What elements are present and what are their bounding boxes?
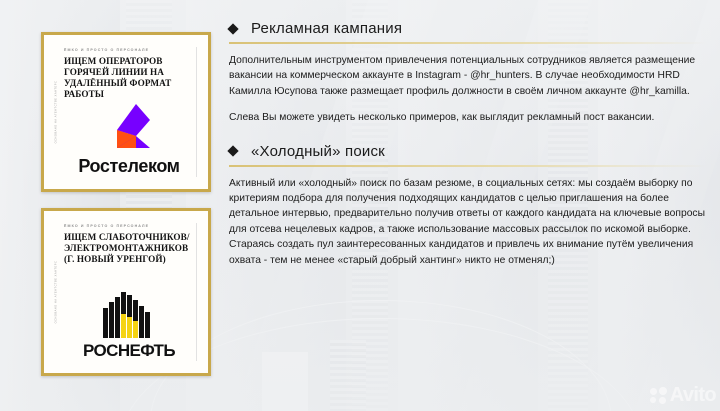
card-inner: ОСНОВАНО НА АГЕНТСТВЕ ХАНТЕРС ЁМКО И ПРО… (48, 215, 204, 369)
card-side-rail: ОСНОВАНО НА АГЕНТСТВЕ ХАНТЕРС (48, 39, 64, 185)
diamond-bullet-icon (227, 145, 238, 156)
avito-dots-icon (650, 387, 667, 404)
section-rule (229, 165, 707, 167)
card-kicker: ЁМКО И ПРОСТО О ПЕРСОНАЛЕ (64, 48, 194, 52)
card-rail-text: ОСНОВАНО НА АГЕНТСТВЕ ХАНТЕРС (55, 261, 58, 324)
card-headline: ИЩЕМ СЛАБОТОЧНИКОВ/ ЭЛЕКТРОМОНТАЖНИКОВ (… (64, 232, 194, 265)
ad-card-rostelecom[interactable]: ОСНОВАНО НА АГЕНТСТВЕ ХАНТЕРС ЁМКО И ПРО… (41, 32, 211, 192)
avito-watermark: Avito (650, 384, 716, 407)
card-body: ЁМКО И ПРОСТО О ПЕРСОНАЛЕ ИЩЕМ ОПЕРАТОРО… (64, 39, 204, 185)
card-inner: ОСНОВАНО НА АГЕНТСТВЕ ХАНТЕРС ЁМКО И ПРО… (48, 39, 204, 185)
card-divider (196, 47, 197, 177)
content-column: Рекламная кампания Дополнительным инстру… (229, 20, 707, 268)
slide-canvas: ОСНОВАНО НА АГЕНТСТВЕ ХАНТЕРС ЁМКО И ПРО… (0, 0, 720, 411)
brand-lockup: РОСНЕФТЬ (64, 265, 194, 363)
card-brand-name: Ростелеком (78, 156, 179, 177)
card-headline: ИЩЕМ ОПЕРАТОРОВ ГОРЯЧЕЙ ЛИНИИ НА УДАЛЁНН… (64, 56, 194, 100)
ad-card-rosneft[interactable]: ОСНОВАНО НА АГЕНТСТВЕ ХАНТЕРС ЁМКО И ПРО… (41, 208, 211, 376)
card-kicker: ЁМКО И ПРОСТО О ПЕРСОНАЛЕ (64, 224, 194, 228)
rostelecom-logo-icon (103, 102, 155, 154)
card-divider (196, 223, 197, 361)
section-title: «Холодный» поиск (251, 143, 385, 160)
diamond-bullet-icon (227, 23, 238, 34)
card-rail-text: ОСНОВАНО НА АГЕНТСТВЕ ХАНТЕРС (55, 81, 58, 144)
brand-lockup: Ростелеком (64, 100, 194, 179)
rosneft-logo-icon (99, 292, 159, 338)
section-heading-advertising: Рекламная кампания (229, 20, 707, 37)
card-body: ЁМКО И ПРОСТО О ПЕРСОНАЛЕ ИЩЕМ СЛАБОТОЧН… (64, 215, 204, 369)
section-rule (229, 42, 707, 44)
section-title: Рекламная кампания (251, 20, 402, 37)
paragraph-advertising-1: Дополнительным инструментом привлечения … (229, 53, 707, 99)
paragraph-cold-search-1: Активный или «холодный» поиск по базам р… (229, 176, 707, 268)
section-heading-cold-search: «Холодный» поиск (229, 143, 707, 160)
card-side-rail: ОСНОВАНО НА АГЕНТСТВЕ ХАНТЕРС (48, 215, 64, 369)
card-brand-name: РОСНЕФТЬ (83, 341, 175, 361)
paragraph-advertising-2: Слева Вы можете увидеть несколько пример… (229, 110, 707, 125)
avito-wordmark: Avito (670, 384, 716, 407)
